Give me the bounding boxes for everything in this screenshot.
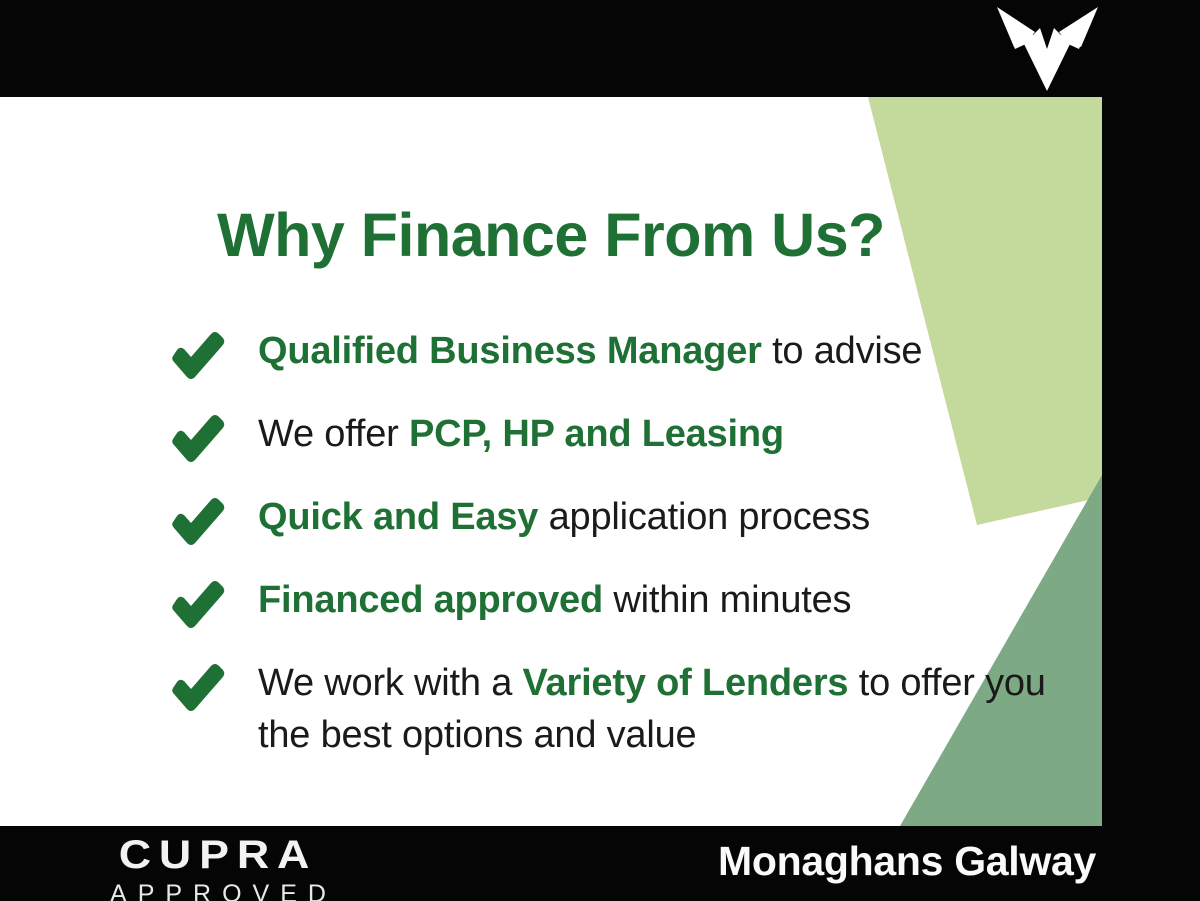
list-item: Quick and Easy application process — [168, 491, 1048, 547]
list-item-label: Qualified Business Manager to advise — [258, 325, 922, 377]
approved-wordmark: APPROVED — [98, 882, 338, 901]
check-icon — [168, 495, 226, 547]
list-item: Qualified Business Manager to advise — [168, 325, 1048, 381]
cupra-approved-logo: CUPRA APPROVED — [98, 835, 338, 901]
cupra-wordmark: CUPRA — [84, 835, 353, 875]
list-item-label: Financed approved within minutes — [258, 574, 851, 626]
content-card: Why Finance From Us? Qualified Business … — [0, 97, 1102, 826]
plain-phrase: We offer — [258, 413, 409, 455]
plain-phrase: application process — [538, 496, 870, 538]
list-item-label: Quick and Easy application process — [258, 491, 870, 543]
check-icon — [168, 412, 226, 464]
cupra-tribal-logo-icon — [995, 5, 1100, 93]
list-item: We work with a Variety of Lenders to off… — [168, 657, 1048, 761]
highlighted-phrase: Quick and Easy — [258, 496, 538, 538]
plain-phrase: within minutes — [603, 579, 851, 621]
list-item-label: We offer PCP, HP and Leasing — [258, 408, 784, 460]
list-item: Financed approved within minutes — [168, 574, 1048, 630]
promotional-slide: Why Finance From Us? Qualified Business … — [0, 0, 1200, 901]
dealer-name: Monaghans Galway — [718, 838, 1096, 885]
list-item-label: We work with a Variety of Lenders to off… — [258, 657, 1048, 761]
plain-phrase: to advise — [762, 330, 923, 372]
top-brand-bar — [0, 0, 1200, 97]
footer-bar: CUPRA APPROVED Monaghans Galway — [0, 826, 1200, 901]
check-icon — [168, 578, 226, 630]
plain-phrase: We work with a — [258, 662, 523, 704]
highlighted-phrase: PCP, HP and Leasing — [409, 413, 784, 455]
check-icon — [168, 329, 226, 381]
highlighted-phrase: Qualified Business Manager — [258, 330, 762, 372]
page-title: Why Finance From Us? — [0, 200, 1102, 270]
benefits-list: Qualified Business Manager to adviseWe o… — [168, 325, 1048, 761]
list-item: We offer PCP, HP and Leasing — [168, 408, 1048, 464]
highlighted-phrase: Variety of Lenders — [523, 662, 849, 704]
highlighted-phrase: Financed approved — [258, 579, 603, 621]
check-icon — [168, 661, 226, 713]
